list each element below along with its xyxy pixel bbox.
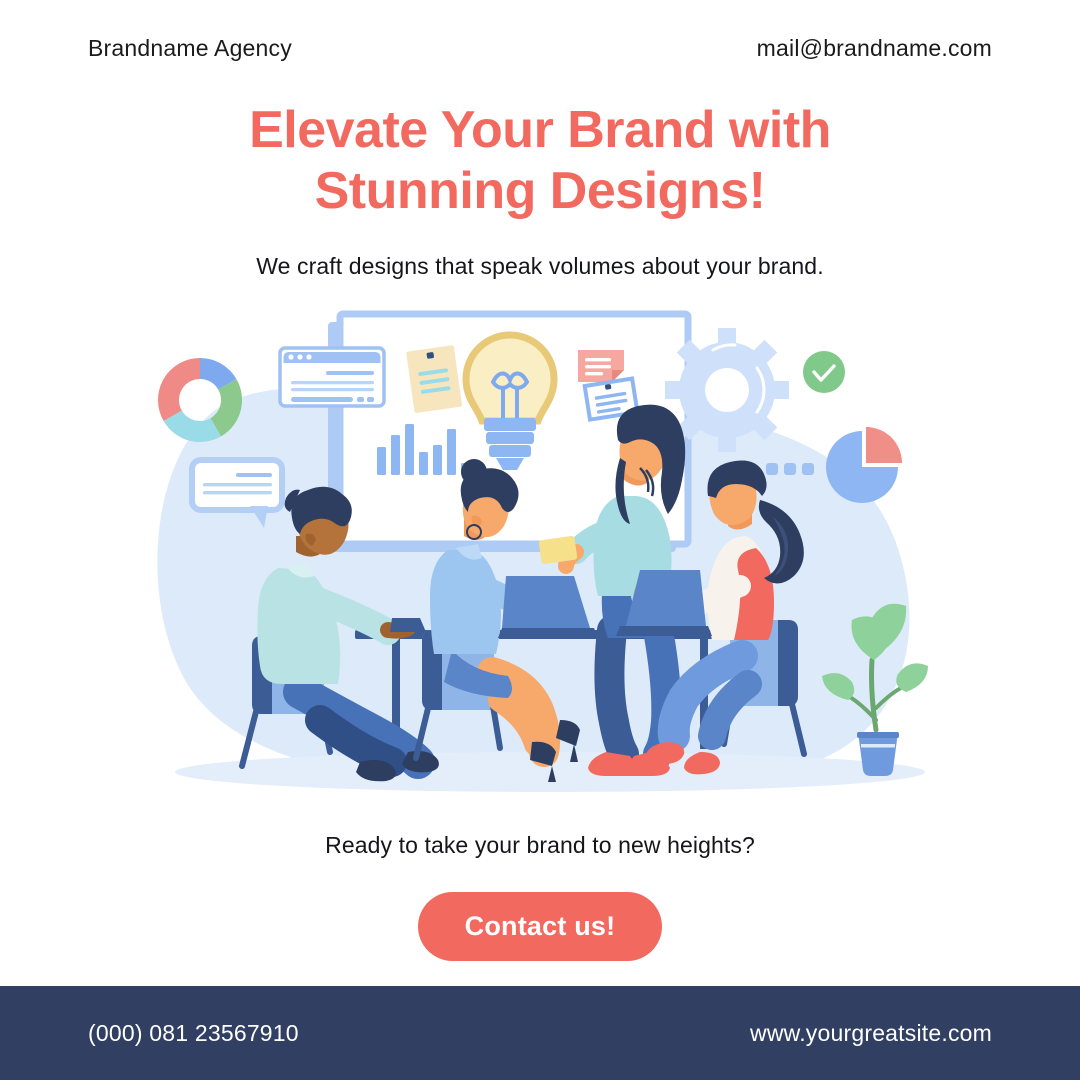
header-bar: Brandname Agency mail@brandname.com (0, 0, 1080, 96)
sticky-note-yellow-icon (406, 345, 462, 413)
cta-question: Ready to take your brand to new heights? (0, 832, 1080, 859)
headline-line-2: Stunning Designs! (120, 161, 960, 222)
cta-block: Ready to take your brand to new heights?… (0, 832, 1080, 961)
contact-us-button[interactable]: Contact us! (418, 892, 663, 961)
promo-poster: Brandname Agency mail@brandname.com Elev… (0, 0, 1080, 1080)
laptop-left-partial (390, 618, 426, 632)
footer-bar: (000) 081 23567910 www.yourgreatsite.com (0, 986, 1080, 1080)
subheadline: We craft designs that speak volumes abou… (0, 253, 1080, 280)
page-title: Elevate Your Brand with Stunning Designs… (0, 100, 1080, 223)
hero-text-block: Elevate Your Brand with Stunning Designs… (0, 100, 1080, 280)
headline-line-1: Elevate Your Brand with (120, 100, 960, 161)
check-circle-icon (803, 351, 845, 393)
footer-website[interactable]: www.yourgreatsite.com (750, 1020, 992, 1047)
donut-chart-icon (158, 358, 242, 442)
hero-illustration (0, 300, 1080, 820)
three-dots-icon (766, 463, 814, 475)
pie-chart-icon (826, 427, 902, 503)
footer-phone[interactable]: (000) 081 23567910 (88, 1020, 299, 1047)
browser-window-icon (280, 348, 384, 406)
contact-email[interactable]: mail@brandname.com (757, 35, 992, 62)
gear-icon (665, 328, 789, 452)
brand-name: Brandname Agency (88, 35, 292, 62)
